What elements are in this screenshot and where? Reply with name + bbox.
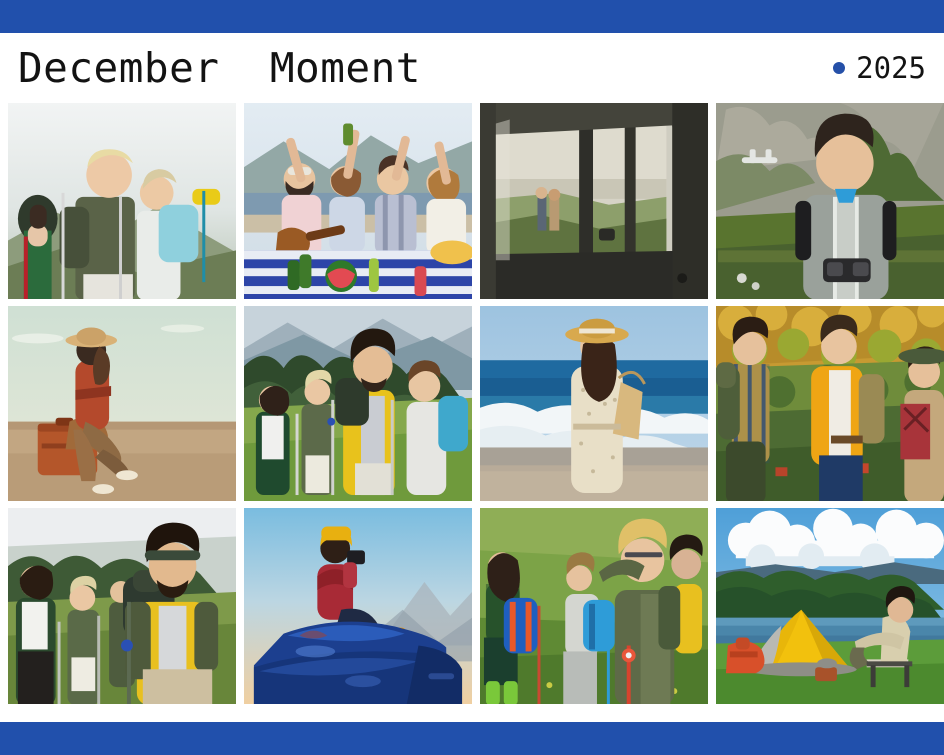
bottom-accent-bar xyxy=(0,722,944,755)
photo-grid xyxy=(8,103,944,704)
poster-header: December Moment 2025 xyxy=(0,33,944,103)
photo-cell-5[interactable] xyxy=(8,306,236,502)
year-badge: 2025 xyxy=(833,54,930,83)
year-label: 2025 xyxy=(856,54,926,83)
photo-cell-3[interactable] xyxy=(480,103,708,299)
top-accent-bar xyxy=(0,0,944,33)
photo-backpacker-leader xyxy=(8,508,236,704)
page-title: December Moment xyxy=(18,48,421,89)
photo-autumn-backpackers xyxy=(716,306,944,502)
photo-van-window-beach xyxy=(480,103,708,299)
photo-beach-walk xyxy=(480,306,708,502)
photo-cell-11[interactable] xyxy=(480,508,708,704)
photo-cell-1[interactable] xyxy=(8,103,236,299)
photo-cell-2[interactable] xyxy=(244,103,472,299)
photo-cell-6[interactable] xyxy=(244,306,472,502)
photo-drone-pilot xyxy=(716,103,944,299)
photo-suitcase-desert xyxy=(8,306,236,502)
photo-cell-4[interactable] xyxy=(716,103,944,299)
photo-cell-8[interactable] xyxy=(716,306,944,502)
photo-car-roof-traveller xyxy=(244,508,472,704)
photo-cell-10[interactable] xyxy=(244,508,472,704)
poster-page: December Moment 2025 xyxy=(0,0,944,755)
photo-hikers-ridge xyxy=(8,103,236,299)
bullet-dot-icon xyxy=(833,62,845,74)
photo-alpine-hikers xyxy=(244,306,472,502)
photo-cell-7[interactable] xyxy=(480,306,708,502)
photo-pasture-hikers xyxy=(480,508,708,704)
photo-cell-9[interactable] xyxy=(8,508,236,704)
photo-cell-12[interactable] xyxy=(716,508,944,704)
photo-picnic-party xyxy=(244,103,472,299)
photo-lakeside-tent xyxy=(716,508,944,704)
